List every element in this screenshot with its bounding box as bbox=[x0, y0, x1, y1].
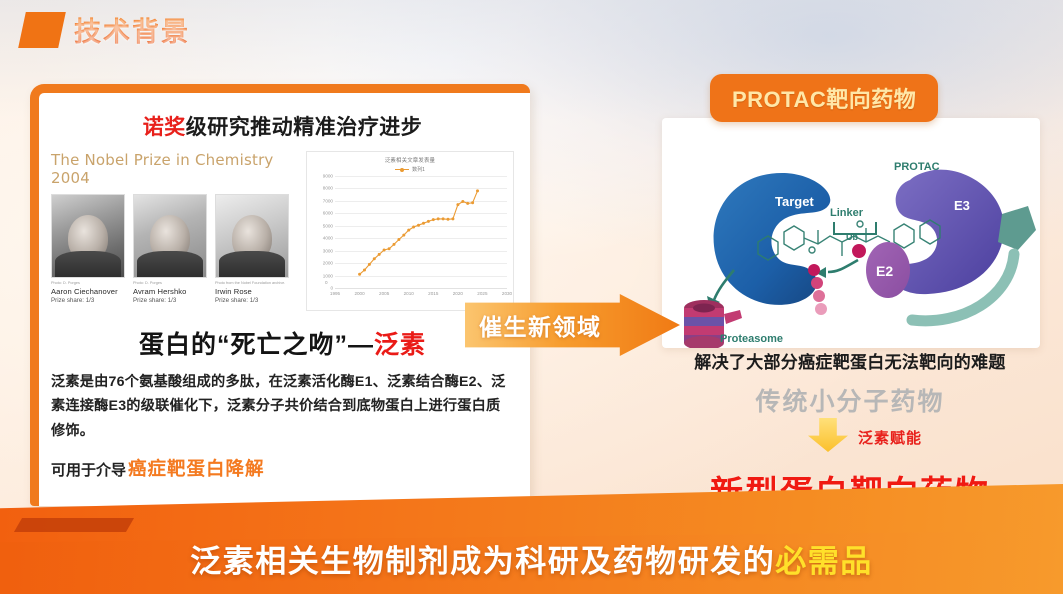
left-info-card: 诺奖级研究推动精准治疗进步 The Nobel Prize in Chemist… bbox=[30, 84, 530, 506]
chart-y-tick: 7000 bbox=[323, 198, 333, 203]
chart-x-tick: 2015 bbox=[428, 291, 438, 296]
right-line-2: 传统小分子药物 bbox=[640, 382, 1060, 418]
chart-x-tick: 2020 bbox=[453, 291, 463, 296]
chart-series-line bbox=[335, 176, 507, 288]
polyub-node bbox=[813, 290, 825, 302]
card-title-highlight: 诺奖 bbox=[143, 116, 186, 139]
diagram-label-ub: Ub bbox=[846, 232, 858, 242]
card-heading-text: 蛋白的“死亡之吻”— bbox=[139, 331, 374, 359]
card-paragraph: 泛素是由76个氨基酸组成的多肽，在泛素活化酶E1、泛素结合酶E2、泛素连接酶E3… bbox=[51, 370, 514, 443]
chart-y-axis: 0100020003000400050006000700080009000 bbox=[311, 176, 335, 288]
laureate-name: Aaron Ciechanover bbox=[51, 287, 125, 296]
list-item: Photo: D. Porges Avram Hershko Prize sha… bbox=[133, 194, 207, 304]
diagram-label-e3: E3 bbox=[954, 198, 970, 213]
diagram-label-e2: E2 bbox=[876, 263, 893, 279]
chart-y-tick: 5000 bbox=[323, 223, 333, 228]
diagram-label-linker: Linker bbox=[830, 207, 864, 219]
photo-credit: Photo: D. Porges bbox=[133, 281, 207, 286]
chart-title: 泛素相关文章发表量 bbox=[311, 156, 509, 164]
chart-y-tick: 8000 bbox=[323, 186, 333, 191]
polyub-node bbox=[815, 303, 827, 315]
list-item: Photo: D. Porges Aaron Ciechanover Prize… bbox=[51, 194, 125, 304]
publication-chart: 泛素相关文章发表量 数列1 01000200030004000500060007… bbox=[306, 151, 514, 311]
chart-x-tick: 2005 bbox=[379, 291, 389, 296]
banner-tab-accent bbox=[14, 518, 134, 532]
card-heading-red: 泛素 bbox=[374, 331, 426, 359]
card-tagline: 可用于介导 癌症靶蛋白降解 bbox=[51, 455, 514, 481]
laureate-name: Avram Hershko bbox=[133, 287, 207, 296]
chart-y-tick: 9000 bbox=[323, 174, 333, 179]
diagram-label-target: Target bbox=[775, 194, 814, 209]
chart-x-tick: 2010 bbox=[404, 291, 414, 296]
chart-origin-label: 0 bbox=[325, 280, 328, 285]
legend-label: 数列1 bbox=[412, 166, 425, 173]
avatar bbox=[215, 194, 289, 278]
polyub-node bbox=[811, 277, 823, 289]
arrow-label: 催生新领域 bbox=[479, 308, 602, 342]
chart-x-tick: 2000 bbox=[354, 291, 364, 296]
laureate-list: Photo: D. Porges Aaron Ciechanover Prize… bbox=[51, 194, 296, 304]
chart-plot-area: 0100020003000400050006000700080009000 bbox=[311, 176, 509, 288]
protac-badge-label: PROTAC靶向药物 bbox=[732, 82, 916, 114]
protac-diagram: Target E3 Linker PROTAC E2 Ub bbox=[662, 118, 1040, 348]
nobel-heading: The Nobel Prize in Chemistry 2004 bbox=[51, 151, 296, 187]
tagline-highlight: 癌症靶蛋白降解 bbox=[128, 455, 265, 481]
chart-y-tick: 3000 bbox=[323, 248, 333, 253]
chart-y-tick: 1000 bbox=[323, 273, 333, 278]
prize-share: Prize share: 1/3 bbox=[51, 297, 125, 304]
prize-share: Prize share: 1/3 bbox=[133, 297, 207, 304]
header-mark-icon bbox=[18, 12, 66, 48]
chart-x-tick: 1995 bbox=[330, 291, 340, 296]
ubiquitin-node bbox=[852, 244, 866, 258]
prize-share: Prize share: 1/3 bbox=[215, 297, 289, 304]
protac-badge: PROTAC靶向药物 bbox=[710, 74, 938, 122]
laureate-name: Irwin Rose bbox=[215, 287, 289, 296]
e3-adapter-shape bbox=[998, 206, 1036, 250]
page-header: 技术背景 bbox=[22, 10, 190, 49]
right-line-1: 解决了大部分癌症靶蛋白无法靶向的难题 bbox=[640, 348, 1060, 373]
banner-text-highlight: 必需品 bbox=[775, 544, 873, 579]
legend-swatch bbox=[395, 169, 409, 170]
polyub-node bbox=[808, 264, 820, 276]
banner-text: 泛素相关生物制剂成为科研及药物研发的必需品 bbox=[0, 536, 1063, 581]
list-item: Photo from the Nobel Foundation archive.… bbox=[215, 194, 289, 304]
card-title: 诺奖级研究推动精准治疗进步 bbox=[51, 111, 514, 141]
card-heading: 蛋白的“死亡之吻”—泛素 bbox=[51, 325, 514, 361]
photo-credit: Photo: D. Porges bbox=[51, 281, 125, 286]
chart-line-svg bbox=[335, 176, 507, 288]
ub-transfer-arrow-icon bbox=[828, 260, 858, 272]
chart-y-tick: 4000 bbox=[323, 236, 333, 241]
chart-y-tick: 2000 bbox=[323, 261, 333, 266]
tagline-prefix: 可用于介导 bbox=[51, 459, 126, 480]
nobel-chart-row: The Nobel Prize in Chemistry 2004 Photo:… bbox=[51, 151, 514, 311]
nobel-block: The Nobel Prize in Chemistry 2004 Photo:… bbox=[51, 151, 296, 311]
bottom-banner: 泛素相关生物制剂成为科研及药物研发的必需品 bbox=[0, 484, 1063, 594]
protac-mechanism-svg: Target E3 Linker PROTAC E2 Ub bbox=[662, 118, 1040, 348]
avatar bbox=[133, 194, 207, 278]
chart-y-tick: 6000 bbox=[323, 211, 333, 216]
avatar bbox=[51, 194, 125, 278]
diagram-label-protac: PROTAC bbox=[894, 161, 940, 173]
page-title: 技术背景 bbox=[74, 10, 190, 49]
card-title-rest: 级研究推动精准治疗进步 bbox=[186, 116, 423, 139]
chart-y-tick: 0 bbox=[330, 286, 333, 291]
chart-legend: 数列1 bbox=[311, 166, 509, 173]
photo-credit: Photo from the Nobel Foundation archive. bbox=[215, 281, 289, 286]
transition-arrow: 催生新领域 bbox=[465, 294, 680, 356]
banner-text-main: 泛素相关生物制剂成为科研及药物研发的 bbox=[190, 544, 775, 579]
right-line-3: 泛素赋能 bbox=[858, 427, 922, 448]
diagram-label-proteasome: Proteasome bbox=[720, 333, 783, 345]
